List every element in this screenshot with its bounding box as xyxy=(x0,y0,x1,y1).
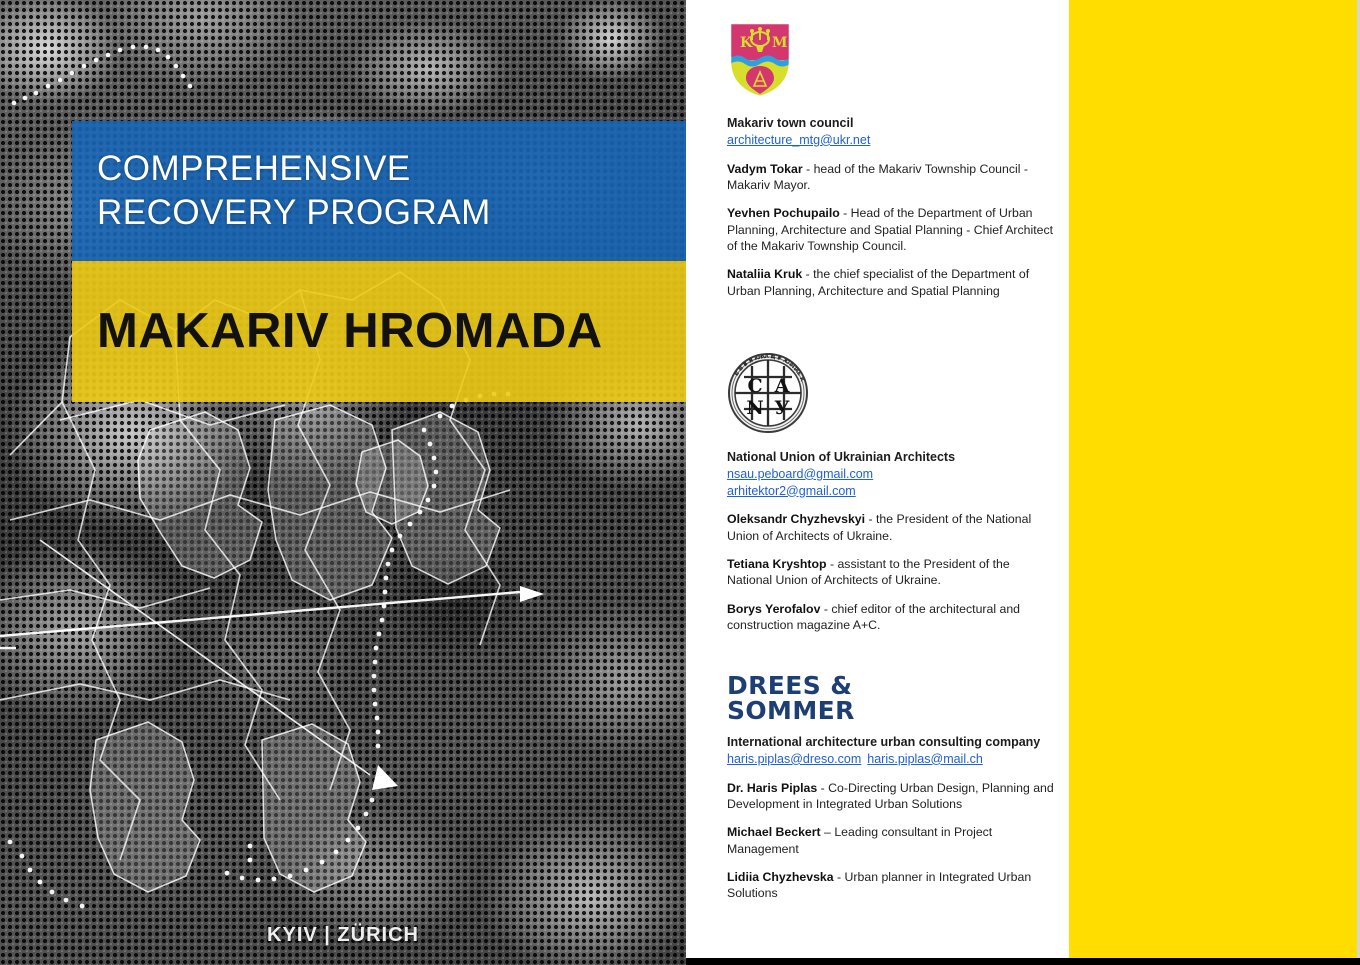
person-name: Lidiia Chyzhevska xyxy=(727,870,834,884)
person-entry: Oleksandr Chyzhevskyi - the President of… xyxy=(727,511,1057,544)
svg-text:У: У xyxy=(774,397,790,419)
title-banner-yellow: MAKARIV HROMADA xyxy=(72,261,686,402)
makariv-coat-of-arms-logo: K M xyxy=(727,20,1057,105)
person-entry: Borys Yerofalov - chief editor of the ar… xyxy=(727,601,1057,634)
org-name: International architecture urban consult… xyxy=(727,734,1057,751)
org-name: National Union of Ukrainian Architects xyxy=(727,449,1057,466)
makariv-coat-of-arms-icon: K M xyxy=(727,20,793,100)
person-name: Yevhen Pochupailo xyxy=(727,206,840,220)
svg-text:N: N xyxy=(746,397,763,419)
ds-logo-line2: SOMMER xyxy=(727,698,1057,723)
map-arrow-down xyxy=(372,765,398,790)
org-name: Makariv town council xyxy=(727,115,1057,132)
ds-logo-line1: DREES & xyxy=(727,673,1057,698)
person-name: Borys Yerofalov xyxy=(727,602,820,616)
person-entry: Vadym Tokar - head of the Makariv Townsh… xyxy=(727,161,1057,194)
person-entry: Yevhen Pochupailo - Head of the Departme… xyxy=(727,205,1057,254)
person-name: Nataliia Kruk xyxy=(727,267,802,281)
person-name: Vadym Tokar xyxy=(727,162,803,176)
nsau-seal-logo: C A N У С П І Л К А А Р Х І xyxy=(727,352,1057,439)
cover-subtitle: MAKARIV HROMADA xyxy=(97,307,603,356)
org-email-row: haris.piplas@dreso.com haris.piplas@mail… xyxy=(727,751,1057,768)
org-email-link[interactable]: architecture_mtg@ukr.net xyxy=(727,132,1057,149)
person-name: Michael Beckert xyxy=(727,825,821,839)
bottom-black-bar xyxy=(686,958,1360,965)
cover-page: COMPREHENSIVE RECOVERY PROGRAM MAKARIV H… xyxy=(0,0,686,965)
map-arrow-right xyxy=(520,586,544,602)
svg-text:A: A xyxy=(774,375,790,397)
person-entry: Lidiia Chyzhevska - Urban planner in Int… xyxy=(727,869,1057,902)
org-block-drees-sommer: DREES & SOMMER International architectur… xyxy=(727,673,1057,902)
person-entry: Nataliia Kruk - the chief specialist of … xyxy=(727,266,1057,299)
person-name: Oleksandr Chyzhevskyi xyxy=(727,512,865,526)
title-banner-blue: COMPREHENSIVE RECOVERY PROGRAM xyxy=(72,121,686,261)
nsau-seal-icon: C A N У С П І Л К А А Р Х І xyxy=(727,352,809,434)
slide-canvas: COMPREHENSIVE RECOVERY PROGRAM MAKARIV H… xyxy=(0,0,1360,965)
svg-text:Ц: Ц xyxy=(770,354,776,361)
drees-and-sommer-wordmark: DREES & SOMMER xyxy=(727,673,1057,723)
org-block-makariv: K M Makariv town council architecture_mt… xyxy=(727,20,1057,299)
org-email-link[interactable]: nsau.peboard@gmail.com xyxy=(727,466,1057,483)
person-name: Dr. Haris Piplas xyxy=(727,781,817,795)
cover-footer-text: KYIV | ZÜRICH xyxy=(267,924,419,946)
person-entry: Michael Beckert – Leading consultant in … xyxy=(727,824,1057,857)
person-entry: Dr. Haris Piplas - Co-Directing Urban De… xyxy=(727,780,1057,813)
cover-footer: KYIV | ZÜRICH xyxy=(0,924,686,947)
svg-text:C: C xyxy=(747,375,762,397)
yellow-panel xyxy=(1069,0,1357,958)
org-email-link[interactable]: haris.piplas@dreso.com xyxy=(727,751,861,768)
person-entry: Tetiana Kryshtop - assistant to the Pres… xyxy=(727,556,1057,589)
cover-title-line1: COMPREHENSIVE xyxy=(97,147,686,191)
svg-text:M: M xyxy=(772,35,788,51)
person-name: Tetiana Kryshtop xyxy=(727,557,827,571)
contacts-page: K M Makariv town council architecture_mt… xyxy=(686,0,1069,958)
org-block-nsau: C A N У С П І Л К А А Р Х І xyxy=(727,352,1057,633)
org-email-link[interactable]: haris.piplas@mail.ch xyxy=(867,751,983,768)
cover-title-line2: RECOVERY PROGRAM xyxy=(97,191,686,235)
org-email-link[interactable]: arhitektor2@gmail.com xyxy=(727,483,1057,500)
page-gap xyxy=(1060,0,1069,958)
